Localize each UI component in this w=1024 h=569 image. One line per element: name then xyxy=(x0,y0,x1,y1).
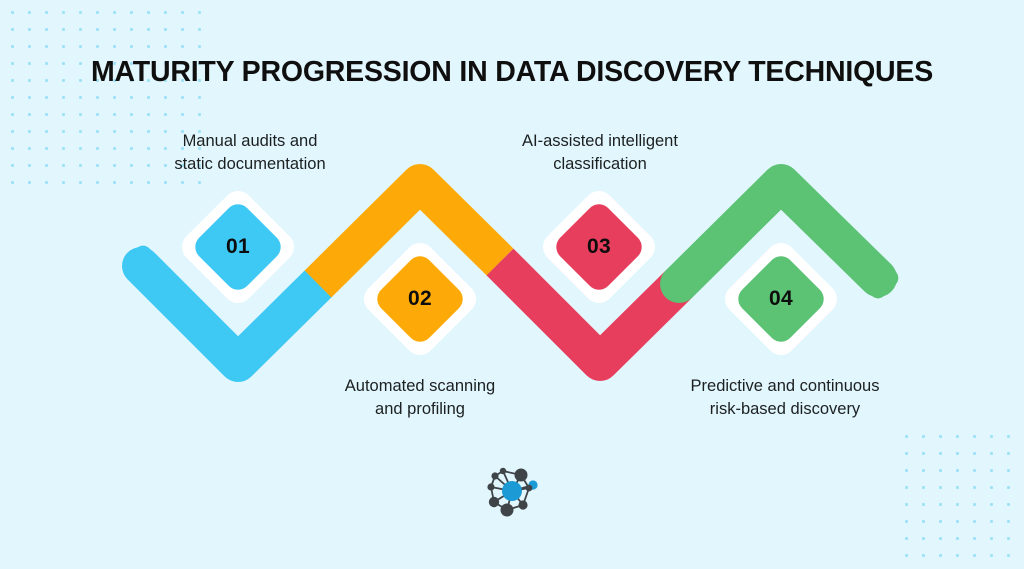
step-node-03[interactable]: 03 xyxy=(537,185,661,309)
step-label-03: AI-assisted intelligent classification xyxy=(475,130,725,176)
step-node-01[interactable]: 01 xyxy=(176,185,300,309)
step-node-02[interactable]: 02 xyxy=(358,237,482,361)
node-number-02: 02 xyxy=(358,237,482,361)
node-number-04: 04 xyxy=(719,237,843,361)
step-label-04: Predictive and continuous risk-based dis… xyxy=(655,375,915,421)
node-number-03: 03 xyxy=(537,185,661,309)
network-nodes-logo xyxy=(481,460,543,522)
step-node-04[interactable]: 04 xyxy=(719,237,843,361)
infographic-canvas: MATURITY PROGRESSION IN DATA DISCOVERY T… xyxy=(0,0,1024,569)
node-number-01: 01 xyxy=(176,185,300,309)
step-label-01: Manual audits and static documentation xyxy=(125,130,375,176)
step-label-02: Automated scanning and profiling xyxy=(295,375,545,421)
